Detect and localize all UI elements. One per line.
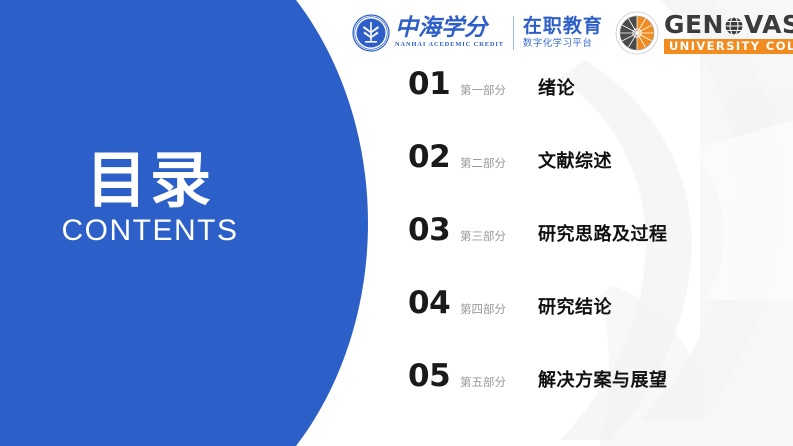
globe-icon [724,15,744,35]
toc-number: 05 [408,358,460,394]
genovasi-name: GEN VASI [664,12,793,37]
toc-section-title: 文献综述 [538,147,612,173]
toc-section-title: 绪论 [538,74,575,100]
genovasi-name-part1: GEN [664,12,724,37]
toc-section-title: 研究结论 [538,293,612,319]
genovasi-wordmark: GEN VASI [664,12,793,55]
toc-part-label: 第三部分 [460,228,538,244]
toc-section-title: 研究思路及过程 [538,220,668,246]
logo-bar: 中海学分 NANHAI ACEDEMIC CREDIT 在职教育 数字化学习平台 [352,8,793,58]
page-title-cn: 目录 [0,150,300,211]
nanhai-name-en: NANHAI ACEDEMIC CREDIT [395,42,504,48]
toc-title-block: 目录 CONTENTS [0,150,300,247]
toc-part-label: 第二部分 [460,155,538,171]
nanhai-logo: 中海学分 NANHAI ACEDEMIC CREDIT [352,14,504,52]
toc-part-label: 第五部分 [460,374,538,390]
nanhai-wordmark: 中海学分 NANHAI ACEDEMIC CREDIT [395,17,504,48]
toc-item-03[interactable]: 03 第三部分 研究思路及过程 [408,212,793,285]
page-title-en: CONTENTS [0,215,300,247]
toc-item-01[interactable]: 01 第一部分 绪论 [408,66,793,139]
logo-divider [513,16,514,50]
zaizhi-logo: 在职教育 数字化学习平台 [523,17,603,49]
toc-part-label: 第一部分 [460,82,538,98]
toc-number: 01 [408,66,460,102]
genovasi-name-part2: VASI [744,12,793,37]
genovasi-logo: GEN VASI [615,11,793,55]
toc-item-02[interactable]: 02 第二部分 文献综述 [408,139,793,212]
zaizhi-name-cn: 在职教育 [523,17,603,36]
toc-number: 03 [408,212,460,248]
toc-number: 04 [408,285,460,321]
genovasi-seal-icon [615,11,659,55]
nanhai-name-cn: 中海学分 [395,17,504,40]
toc-number: 02 [408,139,460,175]
zaizhi-subtitle-cn: 数字化学习平台 [523,39,603,49]
nanhai-seal-icon [352,14,390,52]
toc-section-title: 解决方案与展望 [538,366,668,392]
toc-item-05[interactable]: 05 第五部分 解决方案与展望 [408,358,793,431]
toc-item-04[interactable]: 04 第四部分 研究结论 [408,285,793,358]
toc-part-label: 第四部分 [460,301,538,317]
presentation-slide: 目录 CONTENTS [0,0,793,446]
genovasi-subtitle: UNIVERSITY COLLEGE [664,39,793,55]
table-of-contents-list: 01 第一部分 绪论 02 第二部分 文献综述 03 第三部分 研究思路及过程 … [408,66,793,431]
